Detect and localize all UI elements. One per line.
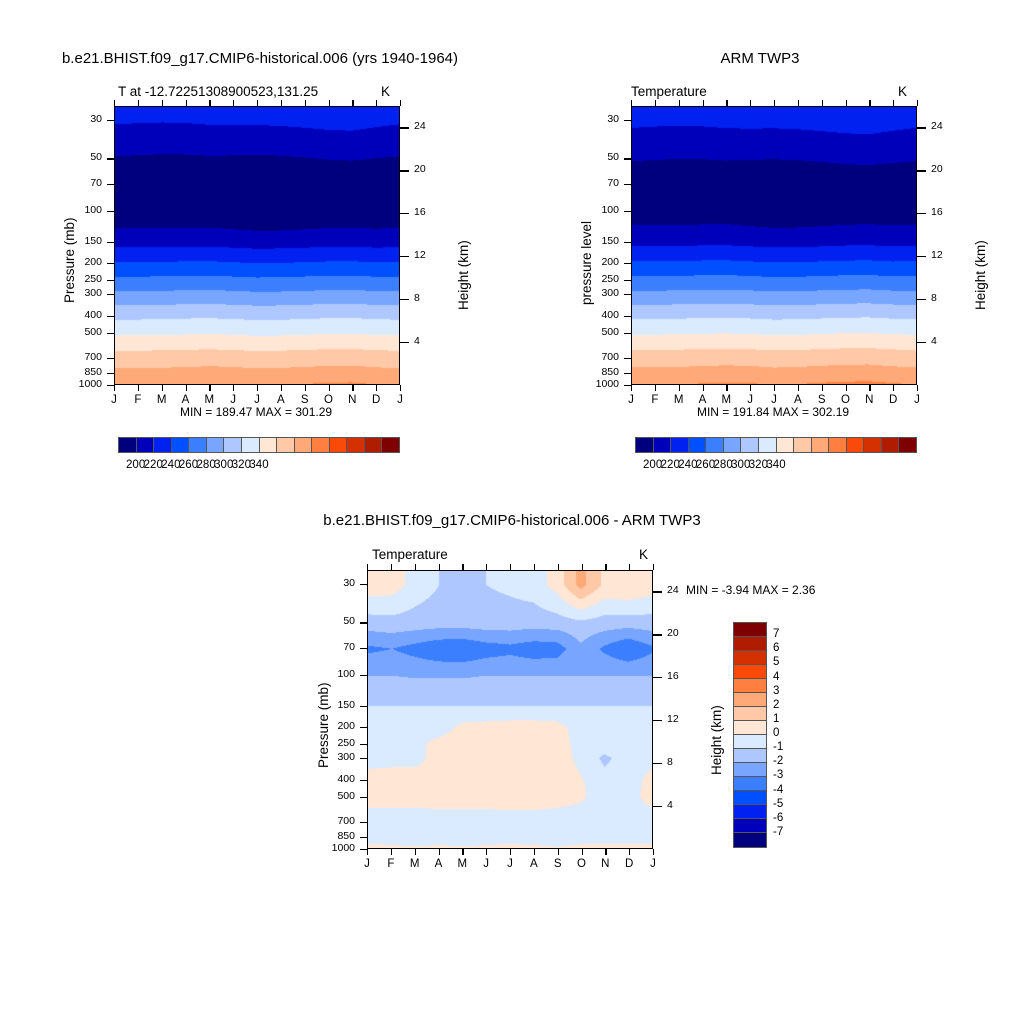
month-tick: [305, 100, 306, 106]
month-label: J: [644, 858, 662, 870]
month-label: F: [129, 394, 147, 406]
colorbar-tick-label: 200: [643, 459, 662, 471]
colorbar-tick-label: 240: [678, 459, 697, 471]
month-tick: [750, 385, 751, 391]
pressure-tick: [624, 120, 631, 121]
month-label: M: [453, 858, 471, 870]
legend-swatch: [734, 679, 766, 693]
colorbar-tick-label: 320: [232, 459, 251, 471]
model-units-label: K: [381, 84, 390, 99]
month-tick: [138, 100, 139, 106]
pressure-tick: [360, 648, 367, 649]
month-tick: [893, 385, 894, 391]
month-label: J: [224, 394, 242, 406]
height-tick: [917, 170, 926, 171]
pressure-tick: [624, 316, 631, 317]
month-label: D: [884, 394, 902, 406]
month-tick: [391, 564, 392, 570]
month-label: O: [837, 394, 855, 406]
colorbar-swatch: [899, 438, 916, 452]
height-tick: [400, 256, 409, 257]
pressure-tick: [624, 385, 631, 386]
month-tick: [162, 100, 163, 106]
month-tick: [822, 385, 823, 391]
month-tick: [653, 564, 654, 570]
month-tick: [186, 385, 187, 391]
diff-subtitle-left: Temperature: [372, 547, 448, 562]
month-tick: [462, 849, 463, 855]
month-tick: [534, 849, 535, 855]
pressure-tick: [107, 385, 114, 386]
colorbar-swatch: [777, 438, 795, 452]
month-tick: [869, 385, 870, 391]
colorbar-tick-label: 280: [197, 459, 216, 471]
legend-tick-label: 1: [773, 713, 779, 725]
pressure-tick-label: 700: [601, 351, 619, 363]
month-tick: [629, 564, 630, 570]
month-label: J: [741, 394, 759, 406]
colorbar-swatch: [794, 438, 812, 452]
month-tick: [281, 100, 282, 106]
height-tick: [653, 677, 662, 678]
legend-swatch: [734, 637, 766, 651]
pressure-tick-label: 30: [343, 577, 355, 589]
height-tick-label: 16: [414, 206, 426, 218]
model-y2axis-title: Height (km): [456, 240, 471, 310]
month-tick: [846, 100, 847, 106]
month-tick: [439, 564, 440, 570]
month-label: A: [789, 394, 807, 406]
obs-units-label: K: [898, 84, 907, 99]
colorbar-tick-label: 340: [249, 459, 268, 471]
month-label: S: [549, 858, 567, 870]
pressure-tick-label: 700: [337, 815, 355, 827]
month-label: J: [622, 394, 640, 406]
colorbar-swatch: [347, 438, 365, 452]
month-tick: [352, 100, 353, 106]
pressure-tick: [624, 373, 631, 374]
colorbar-tick-label: 240: [161, 459, 180, 471]
pressure-tick-label: 30: [90, 113, 102, 125]
pressure-tick: [624, 242, 631, 243]
month-tick: [233, 385, 234, 391]
legend-tick-label: 7: [773, 628, 779, 640]
height-tick: [653, 806, 662, 807]
month-tick: [774, 100, 775, 106]
legend-swatch: [734, 693, 766, 707]
pressure-tick: [360, 675, 367, 676]
pressure-tick-label: 1000: [596, 378, 619, 390]
height-tick-label: 16: [931, 206, 943, 218]
month-label: M: [717, 394, 735, 406]
pressure-tick-label: 50: [607, 151, 619, 163]
pressure-tick: [360, 780, 367, 781]
contour-field: [368, 571, 652, 848]
colorbar-tick-label: 280: [714, 459, 733, 471]
colorbar-swatch: [741, 438, 759, 452]
month-tick: [558, 849, 559, 855]
month-tick: [486, 564, 487, 570]
legend-tick-label: -3: [773, 769, 783, 781]
model-panel-title: b.e21.BHIST.f09_g17.CMIP6-historical.006…: [0, 50, 520, 67]
month-label: S: [813, 394, 831, 406]
pressure-tick-label: 1000: [79, 378, 102, 390]
pressure-tick: [360, 849, 367, 850]
pressure-tick: [107, 184, 114, 185]
month-label: F: [382, 858, 400, 870]
pressure-tick-label: 850: [337, 830, 355, 842]
month-tick: [305, 385, 306, 391]
pressure-tick-label: 300: [601, 287, 619, 299]
month-tick: [631, 100, 632, 106]
legend-swatch: [734, 805, 766, 819]
pressure-tick: [107, 358, 114, 359]
month-label: M: [670, 394, 688, 406]
height-tick: [400, 213, 409, 214]
legend-tick-label: 4: [773, 671, 779, 683]
colorbar-tick-label: 260: [179, 459, 198, 471]
pressure-tick-label: 850: [84, 366, 102, 378]
month-label: A: [430, 858, 448, 870]
height-tick-label: 4: [667, 799, 673, 811]
colorbar-swatch: [312, 438, 330, 452]
month-tick: [329, 385, 330, 391]
legend-tick-label: 2: [773, 699, 779, 711]
height-tick-label: 4: [414, 335, 420, 347]
pressure-tick: [107, 263, 114, 264]
colorbar-swatch: [636, 438, 654, 452]
pressure-tick: [107, 280, 114, 281]
contour-field: [115, 107, 399, 384]
month-label: M: [406, 858, 424, 870]
height-tick-label: 8: [414, 292, 420, 304]
pressure-tick-label: 300: [337, 751, 355, 763]
legend-tick-label: 0: [773, 727, 779, 739]
height-tick-label: 24: [414, 120, 426, 132]
month-tick: [750, 100, 751, 106]
pressure-tick: [360, 706, 367, 707]
legend-tick-label: -7: [773, 826, 783, 838]
height-tick-label: 8: [667, 756, 673, 768]
pressure-tick: [360, 837, 367, 838]
month-tick: [582, 564, 583, 570]
legend-swatch: [734, 833, 766, 847]
colorbar-swatch: [119, 438, 137, 452]
colorbar-tick-label: 300: [731, 459, 750, 471]
colorbar-swatch: [242, 438, 260, 452]
month-tick: [257, 385, 258, 391]
colorbar-swatch: [812, 438, 830, 452]
height-tick: [917, 342, 926, 343]
pressure-tick-label: 50: [343, 615, 355, 627]
pressure-tick: [107, 242, 114, 243]
colorbar-swatch: [847, 438, 865, 452]
legend-tick-label: -2: [773, 755, 783, 767]
pressure-tick: [360, 758, 367, 759]
model-contour-plot[interactable]: [114, 106, 400, 385]
height-tick: [400, 299, 409, 300]
month-tick: [629, 849, 630, 855]
pressure-tick: [624, 333, 631, 334]
month-tick: [558, 564, 559, 570]
month-tick: [114, 385, 115, 391]
month-tick: [703, 100, 704, 106]
legend-swatch: [734, 651, 766, 665]
month-tick: [726, 385, 727, 391]
month-tick: [233, 100, 234, 106]
pressure-tick-label: 150: [601, 235, 619, 247]
month-label: J: [248, 394, 266, 406]
month-tick: [415, 564, 416, 570]
pressure-tick: [360, 727, 367, 728]
month-tick: [329, 100, 330, 106]
legend-swatch: [734, 707, 766, 721]
legend-swatch: [734, 763, 766, 777]
month-tick: [893, 100, 894, 106]
month-label: J: [477, 858, 495, 870]
month-tick: [846, 385, 847, 391]
colorbar-swatch: [260, 438, 278, 452]
month-tick: [822, 100, 823, 106]
month-tick: [605, 849, 606, 855]
pressure-tick: [107, 294, 114, 295]
month-tick: [391, 849, 392, 855]
colorbar-swatch: [172, 438, 190, 452]
pressure-tick: [107, 120, 114, 121]
colorbar-swatch: [207, 438, 225, 452]
colorbar-swatch: [330, 438, 348, 452]
pressure-tick-label: 500: [601, 326, 619, 338]
legend-swatch: [734, 749, 766, 763]
month-label: M: [153, 394, 171, 406]
month-tick: [510, 849, 511, 855]
height-tick-label: 8: [931, 292, 937, 304]
month-label: F: [646, 394, 664, 406]
month-tick: [679, 100, 680, 106]
month-tick: [257, 100, 258, 106]
model-colorbar[interactable]: [118, 437, 400, 453]
colorbar-swatch: [365, 438, 383, 452]
month-label: D: [367, 394, 385, 406]
height-tick-label: 12: [414, 249, 426, 261]
legend-tick-label: 6: [773, 642, 779, 654]
month-label: O: [573, 858, 591, 870]
month-tick: [774, 385, 775, 391]
height-tick: [400, 127, 409, 128]
height-tick-label: 4: [931, 335, 937, 347]
colorbar-swatch: [189, 438, 207, 452]
diff-contour-plot[interactable]: [367, 570, 653, 849]
pressure-tick: [624, 211, 631, 212]
month-tick: [400, 100, 401, 106]
diff-legend-colorbar[interactable]: [733, 622, 767, 848]
pressure-tick-label: 400: [84, 309, 102, 321]
month-tick: [138, 385, 139, 391]
month-tick: [605, 564, 606, 570]
height-tick: [917, 213, 926, 214]
height-tick-label: 20: [931, 163, 943, 175]
pressure-tick: [360, 797, 367, 798]
diff-minmax-label: MIN = -3.94 MAX = 2.36: [686, 583, 815, 597]
colorbar-swatch: [724, 438, 742, 452]
month-tick: [367, 564, 368, 570]
month-tick: [462, 564, 463, 570]
month-label: A: [177, 394, 195, 406]
month-label: A: [272, 394, 290, 406]
height-tick: [917, 127, 926, 128]
month-tick: [281, 385, 282, 391]
colorbar-tick-label: 200: [126, 459, 145, 471]
month-tick: [352, 385, 353, 391]
pressure-tick-label: 50: [90, 151, 102, 163]
month-tick: [655, 100, 656, 106]
month-label: S: [296, 394, 314, 406]
month-label: O: [320, 394, 338, 406]
colorbar-swatch: [277, 438, 295, 452]
legend-swatch: [734, 819, 766, 833]
diff-units-label: K: [639, 547, 648, 562]
month-label: N: [596, 858, 614, 870]
pressure-tick: [107, 373, 114, 374]
colorbar-swatch: [882, 438, 900, 452]
pressure-tick-label: 70: [607, 177, 619, 189]
pressure-tick-label: 400: [337, 773, 355, 785]
height-tick-label: 20: [667, 627, 679, 639]
pressure-tick-label: 1000: [332, 842, 355, 854]
month-tick: [114, 100, 115, 106]
colorbar-swatch: [224, 438, 242, 452]
pressure-tick: [107, 333, 114, 334]
month-tick: [582, 849, 583, 855]
pressure-tick: [360, 744, 367, 745]
month-tick: [703, 385, 704, 391]
colorbar-tick-label: 260: [696, 459, 715, 471]
month-tick: [869, 100, 870, 106]
colorbar-tick-label: 320: [749, 459, 768, 471]
legend-tick-label: -5: [773, 798, 783, 810]
contour-field: [632, 107, 916, 384]
legend-swatch: [734, 791, 766, 805]
month-label: J: [391, 394, 409, 406]
month-tick: [439, 849, 440, 855]
month-tick: [726, 100, 727, 106]
legend-swatch: [734, 735, 766, 749]
legend-swatch: [734, 665, 766, 679]
height-tick: [653, 591, 662, 592]
model-minmax-label: MIN = 189.47 MAX = 301.29: [114, 405, 398, 419]
colorbar-swatch: [864, 438, 882, 452]
month-label: A: [525, 858, 543, 870]
diff-y2axis-title: Height (km): [709, 705, 724, 775]
colorbar-swatch: [671, 438, 689, 452]
month-label: J: [908, 394, 926, 406]
pressure-tick-label: 200: [601, 256, 619, 268]
colorbar-swatch: [382, 438, 399, 452]
height-tick-label: 24: [931, 120, 943, 132]
month-tick: [510, 564, 511, 570]
pressure-tick-label: 300: [84, 287, 102, 299]
pressure-tick-label: 250: [84, 273, 102, 285]
model-subtitle-left: T at -12.72251308900523,131.25: [118, 84, 318, 99]
pressure-tick: [624, 280, 631, 281]
legend-swatch: [734, 721, 766, 735]
month-tick: [186, 100, 187, 106]
pressure-tick-label: 400: [601, 309, 619, 321]
pressure-tick-label: 70: [90, 177, 102, 189]
obs-panel-title: ARM TWP3: [550, 50, 970, 67]
legend-tick-label: -4: [773, 784, 783, 796]
month-label: M: [200, 394, 218, 406]
legend-swatch: [734, 623, 766, 637]
pressure-tick: [624, 358, 631, 359]
month-tick: [376, 385, 377, 391]
height-tick: [653, 763, 662, 764]
height-tick: [653, 634, 662, 635]
colorbar-swatch: [137, 438, 155, 452]
colorbar-tick-label: 300: [214, 459, 233, 471]
month-label: N: [860, 394, 878, 406]
pressure-tick-label: 150: [337, 699, 355, 711]
diff-yaxis-title: Pressure (mb): [316, 682, 331, 768]
legend-tick-label: -6: [773, 812, 783, 824]
pressure-tick: [624, 294, 631, 295]
pressure-tick-label: 700: [84, 351, 102, 363]
month-tick: [376, 100, 377, 106]
pressure-tick: [624, 158, 631, 159]
colorbar-swatch: [154, 438, 172, 452]
height-tick-label: 20: [414, 163, 426, 175]
pressure-tick: [107, 211, 114, 212]
colorbar-swatch: [829, 438, 847, 452]
pressure-tick: [360, 584, 367, 585]
pressure-tick-label: 250: [601, 273, 619, 285]
height-tick-label: 24: [667, 584, 679, 596]
month-tick: [655, 385, 656, 391]
pressure-tick: [360, 822, 367, 823]
month-tick: [798, 385, 799, 391]
month-tick: [400, 385, 401, 391]
pressure-tick: [624, 184, 631, 185]
month-tick: [679, 385, 680, 391]
pressure-tick: [624, 263, 631, 264]
pressure-tick-label: 500: [84, 326, 102, 338]
pressure-tick-label: 70: [343, 641, 355, 653]
height-tick: [400, 170, 409, 171]
month-tick: [162, 385, 163, 391]
height-tick: [917, 256, 926, 257]
pressure-tick-label: 150: [84, 235, 102, 247]
colorbar-swatch: [759, 438, 777, 452]
pressure-tick-label: 850: [601, 366, 619, 378]
month-label: D: [620, 858, 638, 870]
pressure-tick-label: 100: [84, 204, 102, 216]
month-tick: [917, 385, 918, 391]
pressure-tick-label: 500: [337, 790, 355, 802]
obs-colorbar[interactable]: [635, 437, 917, 453]
pressure-tick-label: 200: [337, 720, 355, 732]
pressure-tick-label: 100: [337, 668, 355, 680]
height-tick-label: 12: [931, 249, 943, 261]
month-label: J: [501, 858, 519, 870]
obs-contour-plot[interactable]: [631, 106, 917, 385]
colorbar-tick-label: 220: [144, 459, 163, 471]
height-tick-label: 16: [667, 670, 679, 682]
month-tick: [534, 564, 535, 570]
legend-tick-label: -1: [773, 741, 783, 753]
model-yaxis-title: Pressure (mb): [62, 217, 77, 303]
obs-y2axis-title: Height (km): [973, 240, 988, 310]
colorbar-swatch: [654, 438, 672, 452]
